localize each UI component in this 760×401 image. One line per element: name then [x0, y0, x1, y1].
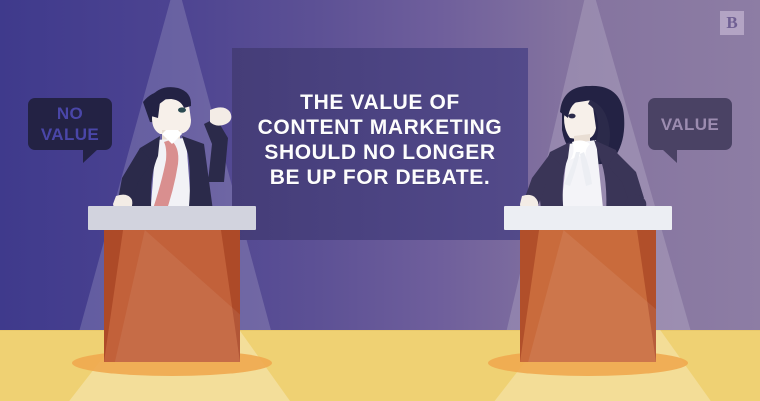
podium-left-body: [104, 230, 240, 362]
man-debater-figure: [96, 78, 246, 218]
no-value-line-1: NO: [41, 103, 99, 124]
no-value-line-2: VALUE: [41, 124, 99, 145]
banner-line-1: THE VALUE OF: [236, 90, 524, 115]
banner-line-4: BE UP FOR DEBATE.: [236, 165, 524, 190]
banner-line-3: SHOULD NO LONGER: [236, 140, 524, 165]
banner-headline: THE VALUE OF CONTENT MARKETING SHOULD NO…: [236, 90, 524, 190]
speech-bubble-no-value: NO VALUE: [28, 98, 112, 150]
banner-line-2: CONTENT MARKETING: [236, 115, 524, 140]
brand-logo[interactable]: B: [720, 11, 744, 35]
podium-right-body: [520, 230, 656, 362]
speech-bubble-no-value-text: NO VALUE: [41, 103, 99, 145]
speech-bubble-value-text: VALUE: [661, 114, 719, 135]
speech-bubble-value-tail: [662, 149, 677, 163]
podium-left-top: [88, 206, 256, 230]
speech-bubble-value: VALUE: [648, 98, 732, 150]
speech-bubble-no-value-tail: [83, 149, 98, 163]
illustration-canvas: THE VALUE OF CONTENT MARKETING SHOULD NO…: [0, 0, 760, 401]
podium-right-top: [504, 206, 672, 230]
